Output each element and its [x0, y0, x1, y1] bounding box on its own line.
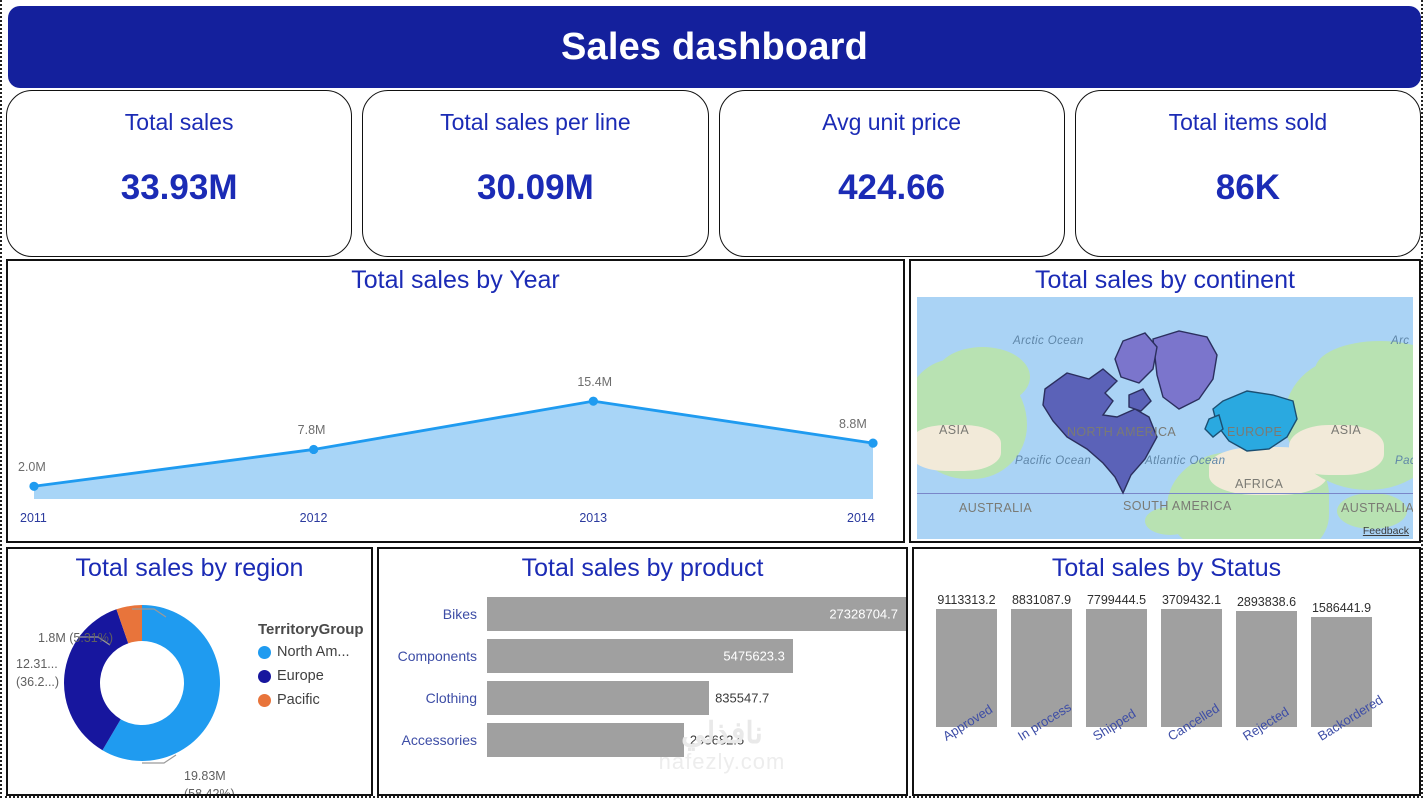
chart-title: Total sales by Status [914, 549, 1419, 583]
chart-title: Total sales by continent [911, 261, 1419, 295]
bar-category-label: Bikes [379, 606, 487, 622]
bar-value-label: 9113313.2 [937, 593, 995, 607]
legend-item-north-america[interactable]: North Am... [258, 644, 364, 660]
bar-row-accessories[interactable]: Accessories293682.5 [379, 723, 906, 757]
map-label-arctic-ocean-right: Arc [1391, 335, 1409, 347]
bar-category-label: Accessories [379, 732, 487, 748]
legend-territory-group: TerritoryGroup North Am... Europe Pacifi… [258, 621, 364, 716]
highlight-greenland[interactable] [1153, 331, 1217, 409]
area-chart-svg [8, 295, 903, 533]
chart-title: Total sales by product [379, 549, 906, 583]
donut-label-pacific: 1.8M (5.31%) [38, 631, 113, 647]
data-point-2011[interactable] [29, 482, 38, 491]
bar-column-backordered[interactable]: 1586441.9Backordered [1311, 617, 1372, 727]
bar-column-in-process[interactable]: 8831087.9In process [1011, 609, 1072, 727]
data-point-2014[interactable] [868, 438, 877, 447]
dashboard-header: Sales dashboard [8, 6, 1421, 88]
chart-panel-total-sales-by-region[interactable]: Total sales by region 1.8M (5.31%) 12.31… [6, 547, 373, 796]
bar-fill[interactable] [1236, 611, 1297, 727]
map-label-africa: AFRICA [1235, 477, 1283, 491]
bar-column-rejected[interactable]: 2893838.6Rejected [1236, 611, 1297, 727]
legend-item-europe[interactable]: Europe [258, 668, 364, 684]
kpi-label: Total sales per line [440, 109, 631, 136]
data-label-2011: 2.0M [18, 460, 46, 474]
bar-value-label: 2893838.6 [1237, 595, 1296, 609]
data-label-2013: 15.4M [577, 375, 612, 389]
donut-label-north-percent: (58.42%) [184, 787, 235, 796]
legend-item-pacific[interactable]: Pacific [258, 692, 364, 708]
bar-category-label: Clothing [379, 690, 487, 706]
chart-panel-total-sales-by-status[interactable]: Total sales by Status 9113313.2Approved8… [912, 547, 1421, 796]
bar-value-label: 1586441.9 [1312, 601, 1371, 615]
legend-title: TerritoryGroup [258, 621, 364, 638]
map-label-pacific-ocean-right: Paci [1395, 455, 1413, 467]
page-title: Sales dashboard [561, 26, 868, 69]
legend-color-dot [258, 670, 271, 683]
chart-title: Total sales by region [8, 549, 371, 583]
bar-value-label: 27328704.7 [829, 607, 898, 622]
highlight-canada-arctic[interactable] [1115, 333, 1157, 383]
bar-chart-total-sales-by-product[interactable]: Bikes27328704.7Components5475623.3Clothi… [379, 597, 906, 796]
data-label-2012: 7.8M [298, 423, 326, 437]
map-label-asia-west: ASIA [939, 423, 969, 437]
legend-color-dot [258, 646, 271, 659]
x-axis-tick-2012: 2012 [300, 511, 328, 525]
kpi-label: Total sales [125, 109, 234, 136]
bar-value-label: 7799444.5 [1087, 593, 1146, 607]
donut-label-europe-value: 12.31... [16, 657, 58, 673]
donut-label-north-value: 19.83M [184, 769, 226, 785]
x-axis-tick-2011: 2011 [20, 511, 47, 525]
x-axis-tick-2014: 2014 [847, 511, 875, 525]
donut-label-europe-percent: (36.2...) [16, 675, 59, 691]
bar-value-label: 3709432.1 [1162, 593, 1221, 607]
map-label-australia-left: AUSTRALIA [959, 501, 1032, 515]
bar-value-label: 293682.5 [690, 733, 744, 748]
bar-column-cancelled[interactable]: 3709432.1Cancelled [1161, 609, 1222, 727]
bar-track: 27328704.7 [487, 597, 906, 631]
legend-color-dot [258, 694, 271, 707]
dashboard-page: Sales dashboard Total sales 33.93M Total… [0, 0, 1423, 798]
legend-item-label: Europe [277, 668, 324, 684]
highlight-europe[interactable] [1213, 391, 1297, 451]
x-axis-tick-2013: 2013 [579, 511, 607, 525]
data-point-2012[interactable] [309, 445, 318, 454]
bar-chart-total-sales-by-status[interactable]: 9113313.2Approved8831087.9In process7799… [914, 589, 1419, 789]
chart-panel-total-sales-by-continent[interactable]: Total sales by continent [909, 259, 1421, 543]
legend-item-label: Pacific [277, 692, 320, 708]
bar-row-bikes[interactable]: Bikes27328704.7 [379, 597, 906, 631]
bar-fill[interactable] [487, 681, 709, 715]
bar-row-clothing[interactable]: Clothing835547.7 [379, 681, 906, 715]
data-label-2014: 8.8M [839, 417, 867, 431]
bar-row-components[interactable]: Components5475623.3 [379, 639, 906, 673]
area-chart-total-sales-by-year[interactable]: 2.0M7.8M15.4M8.8M2011201220132014 [8, 295, 903, 533]
bar-column-shipped[interactable]: 7799444.5Shipped [1086, 609, 1147, 727]
map-label-north-america: NORTH AMERICA [1067, 425, 1176, 439]
bar-column-approved[interactable]: 9113313.2Approved [936, 609, 997, 727]
kpi-label: Total items sold [1169, 109, 1328, 136]
bar-value-label: 835547.7 [715, 691, 769, 706]
map-label-europe: EUROPE [1227, 425, 1282, 439]
bar-fill[interactable] [1086, 609, 1147, 727]
chart-panel-total-sales-by-product[interactable]: Total sales by product Bikes27328704.7Co… [377, 547, 908, 796]
legend-item-label: North Am... [277, 644, 350, 660]
bar-value-label: 5475623.3 [723, 649, 784, 664]
bar-track: 293682.5 [487, 723, 906, 757]
world-map[interactable]: Arctic Ocean ASIA NORTH AMERICA Pacific … [917, 297, 1413, 539]
area-fill [34, 401, 873, 499]
bar-track: 5475623.3 [487, 639, 906, 673]
kpi-card-total-items-sold[interactable]: Total items sold 86K [1075, 90, 1421, 257]
kpi-value: 86K [1216, 168, 1280, 208]
bar-fill[interactable] [487, 723, 684, 757]
bar-category-label: Components [379, 648, 487, 664]
chart-title: Total sales by Year [8, 261, 903, 295]
map-label-pacific-ocean: Pacific Ocean [1015, 455, 1091, 467]
kpi-row: Total sales 33.93M Total sales per line … [6, 90, 1421, 257]
map-label-atlantic-ocean: Atlantic Ocean [1145, 455, 1225, 467]
kpi-value: 33.93M [121, 168, 238, 208]
kpi-card-total-sales-per-line[interactable]: Total sales per line 30.09M [362, 90, 708, 257]
highlight-uk[interactable] [1205, 415, 1223, 437]
map-label-arctic-ocean: Arctic Ocean [1013, 335, 1084, 347]
map-label-australia-right: AUSTRALIA [1341, 501, 1413, 515]
chart-panel-total-sales-by-year[interactable]: Total sales by Year 2.0M7.8M15.4M8.8M201… [6, 259, 905, 543]
bar-track: 835547.7 [487, 681, 906, 715]
kpi-label: Avg unit price [822, 109, 961, 136]
kpi-value: 424.66 [838, 168, 945, 208]
map-label-asia-east: ASIA [1331, 423, 1361, 437]
kpi-value: 30.09M [477, 168, 594, 208]
highlight-greenland-south[interactable] [1129, 389, 1151, 411]
bar-value-label: 8831087.9 [1012, 593, 1071, 607]
data-point-2013[interactable] [589, 397, 598, 406]
map-feedback-link[interactable]: Feedback [1363, 525, 1409, 537]
kpi-card-avg-unit-price[interactable]: Avg unit price 424.66 [719, 90, 1065, 257]
map-label-south-america: SOUTH AMERICA [1123, 499, 1232, 513]
kpi-card-total-sales[interactable]: Total sales 33.93M [6, 90, 352, 257]
donut-chart-total-sales-by-region[interactable]: 1.8M (5.31%) 12.31... (36.2...) 19.83M (… [8, 583, 371, 788]
